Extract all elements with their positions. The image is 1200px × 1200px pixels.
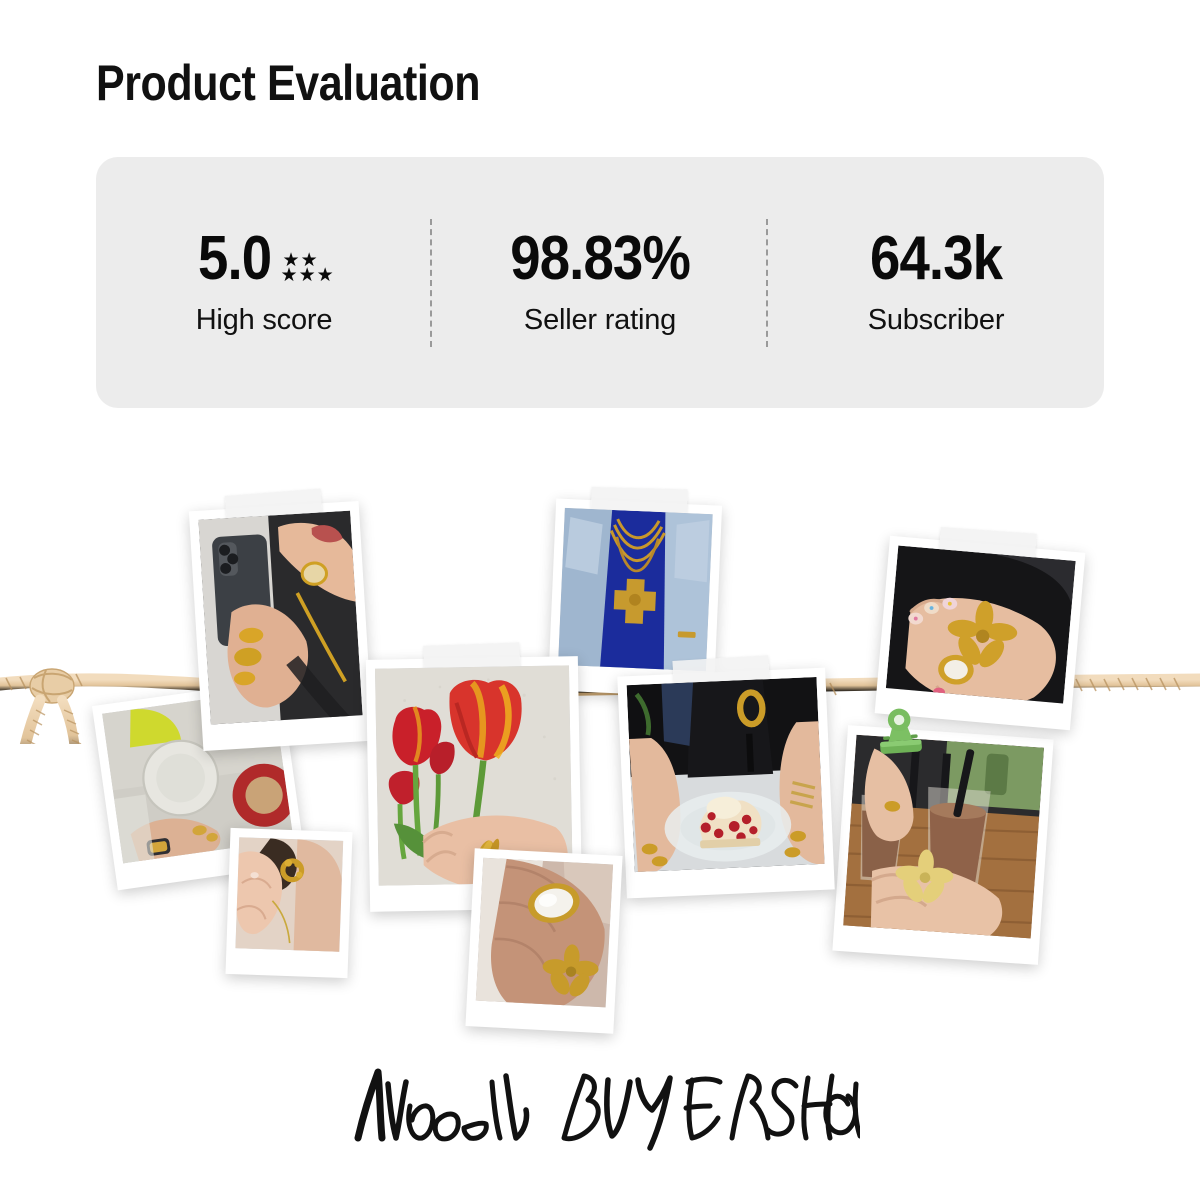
collage-photo-dessert-plate[interactable]	[617, 668, 834, 899]
stat-value-high-score: 5.0	[198, 228, 271, 290]
page-title: Product Evaluation	[96, 54, 480, 112]
photo-image	[627, 677, 825, 872]
photo-image	[558, 508, 713, 671]
stat-value-subscriber: 64.3k	[870, 228, 1002, 290]
stat-label-subscriber: Subscriber	[868, 304, 1005, 337]
star-icon: ★	[299, 269, 316, 284]
star-rating-cluster-icon: ★ ★ ★ ★ ★	[281, 254, 335, 284]
stat-value-seller-rating: 98.83%	[510, 228, 690, 290]
photo-image	[235, 837, 343, 952]
collage-photo-chocolate-drinks[interactable]	[832, 725, 1053, 965]
stat-subscriber: 64.3k Subscriber	[768, 157, 1104, 408]
photo-image	[198, 511, 362, 725]
collage-photo-earring-detail[interactable]	[225, 828, 352, 978]
photo-image	[886, 546, 1076, 704]
stat-value-row: 64.3k	[861, 228, 1011, 290]
star-icon: ★	[281, 269, 298, 284]
stat-label-high-score: High score	[196, 304, 333, 337]
photo-collage	[0, 440, 1200, 1060]
brand-signature: Uwoeld BUYER SHOW	[0, 1062, 1200, 1167]
star-icon: ★	[317, 269, 334, 284]
stat-value-row: 5.0 ★ ★ ★ ★ ★	[193, 228, 334, 290]
photo-image	[476, 858, 613, 1008]
bulldog-clip-icon[interactable]	[872, 702, 928, 761]
stars-row-bottom: ★ ★ ★	[281, 269, 335, 284]
stats-card: 5.0 ★ ★ ★ ★ ★ High score 98.83% Seller r…	[96, 157, 1104, 408]
stat-high-score: 5.0 ★ ★ ★ ★ ★ High score	[96, 157, 432, 408]
stat-seller-rating: 98.83% Seller rating	[432, 157, 768, 408]
collage-photo-flower-ring-hand[interactable]	[875, 536, 1086, 730]
collage-photo-mirror-selfie-rings[interactable]	[189, 501, 373, 751]
stat-value-row: 98.83%	[498, 228, 702, 290]
collage-photo-pearl-ring[interactable]	[465, 848, 622, 1034]
photo-image	[843, 735, 1044, 939]
signature-script	[340, 1062, 860, 1162]
stat-label-seller-rating: Seller rating	[524, 304, 676, 337]
